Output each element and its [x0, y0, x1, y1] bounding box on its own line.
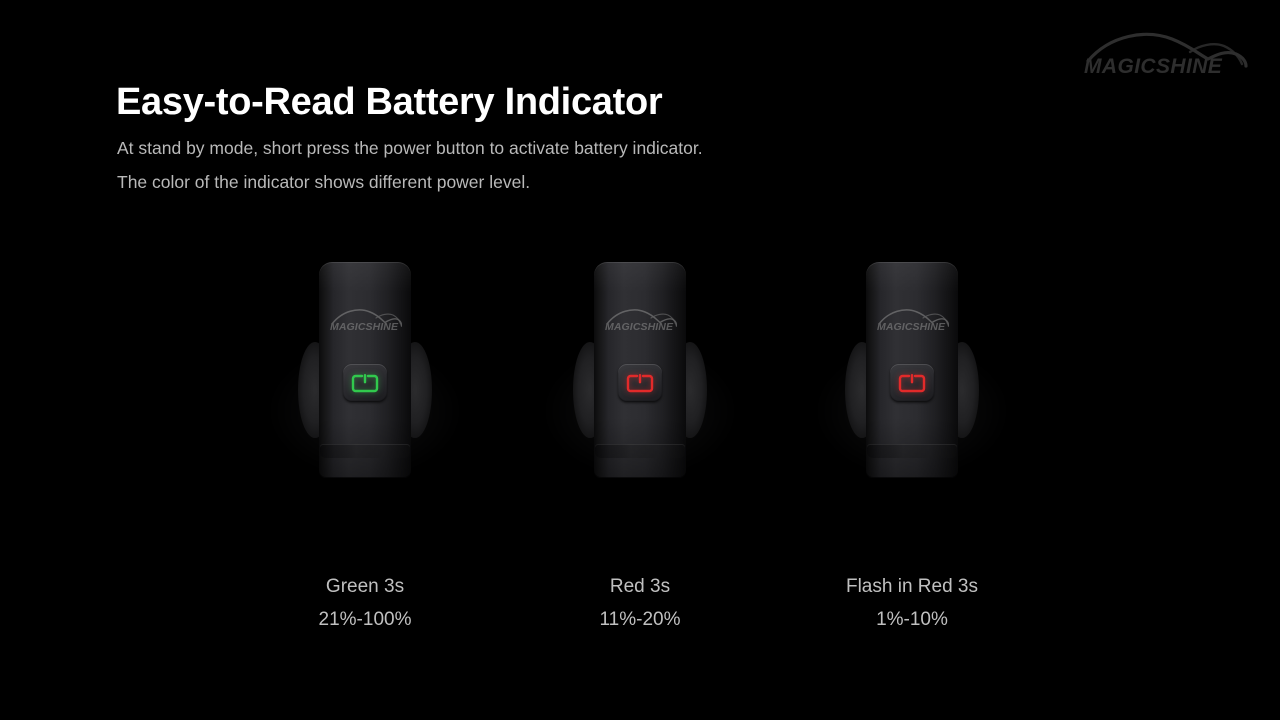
slide-canvas: MAGICSHINE Easy-to-Read Battery Indicato… — [0, 0, 1280, 720]
power-icon-solid — [351, 374, 379, 393]
page-title: Easy-to-Read Battery Indicator — [116, 80, 662, 126]
caption-row: Green 3s 21%-100% Red 3s 11%-20% Flash i… — [0, 570, 1280, 650]
power-icon-flash — [898, 374, 926, 393]
device-brand-logo-text: MAGICSHINE — [877, 321, 946, 332]
device-body: MAGICSHINE — [319, 262, 411, 478]
device-brand-logo-text: MAGICSHINE — [330, 321, 399, 332]
caption-label: Flash in Red 3s — [752, 570, 1072, 603]
device-caption-device-flash-red: Flash in Red 3s 1%-10% — [752, 570, 1072, 636]
page-subtitle: At stand by mode, short press the power … — [117, 131, 703, 199]
device-illustration-device-green: MAGICSHINE — [265, 250, 465, 510]
device-brand-logo: MAGICSHINE — [328, 306, 402, 332]
device-base — [867, 444, 957, 458]
device-base — [595, 444, 685, 458]
caption-range: 21%-100% — [205, 603, 525, 636]
device-brand-logo: MAGICSHINE — [875, 306, 949, 332]
subtitle-line-1: At stand by mode, short press the power … — [117, 131, 703, 165]
device-body: MAGICSHINE — [594, 262, 686, 478]
power-button[interactable] — [618, 364, 662, 402]
device-brand-logo-text: MAGICSHINE — [605, 321, 674, 332]
device-base — [320, 444, 410, 458]
device-illustration-device-red: MAGICSHINE — [540, 250, 740, 510]
power-button[interactable] — [343, 364, 387, 402]
device-brand-logo: MAGICSHINE — [603, 306, 677, 332]
caption-range: 1%-10% — [752, 603, 1072, 636]
power-button[interactable] — [890, 364, 934, 402]
magicshine-logo: MAGICSHINE — [1080, 28, 1250, 76]
device-illustration-device-flash-red: MAGICSHINE — [812, 250, 1012, 510]
subtitle-line-2: The color of the indicator shows differe… — [117, 165, 703, 199]
caption-label: Green 3s — [205, 570, 525, 603]
device-caption-device-green: Green 3s 21%-100% — [205, 570, 525, 636]
device-body: MAGICSHINE — [866, 262, 958, 478]
power-icon-solid — [626, 374, 654, 393]
magicshine-logo-text: MAGICSHINE — [1084, 55, 1223, 76]
device-row: MAGICSHINE MAGICSHINE — [0, 250, 1280, 510]
